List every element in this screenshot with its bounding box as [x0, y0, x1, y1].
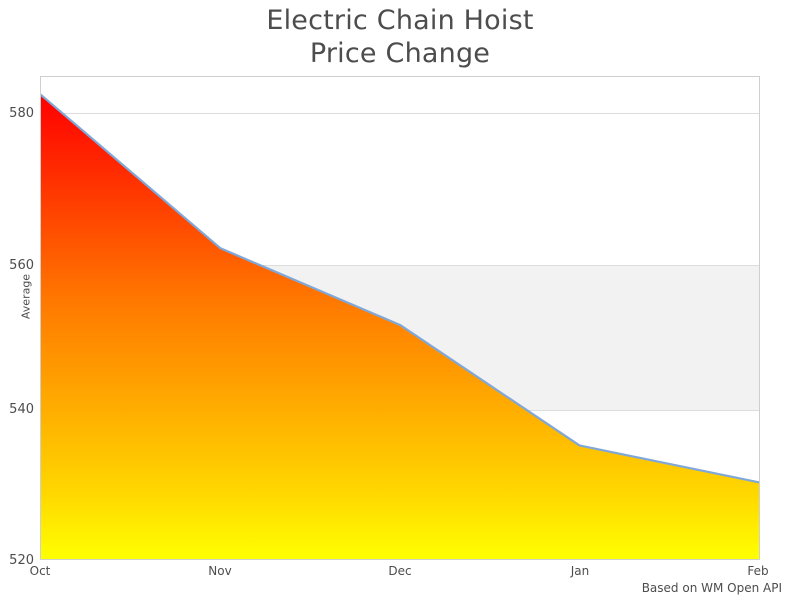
x-tick-label-dec: Dec [388, 564, 411, 578]
y-tick-label-560: 560 [4, 258, 34, 273]
x-tick-label-jan: Jan [571, 564, 590, 578]
plot-area [40, 76, 760, 560]
chart-title: Electric Chain Hoist Price Change [0, 4, 800, 70]
area-fill [41, 95, 759, 559]
chart-title-line-2: Price Change [0, 37, 800, 70]
source-note: Based on WM Open API [642, 581, 782, 595]
y-tick-label-540: 540 [4, 402, 34, 417]
chart-title-line-1: Electric Chain Hoist [0, 4, 800, 37]
y-tick-label-580: 580 [4, 106, 34, 121]
area-series-svg [41, 77, 759, 559]
x-tick-label-oct: Oct [30, 564, 51, 578]
chart-container: Electric Chain Hoist Price Change Averag… [0, 0, 800, 600]
x-tick-label-feb: Feb [747, 564, 768, 578]
x-tick-label-nov: Nov [208, 564, 231, 578]
